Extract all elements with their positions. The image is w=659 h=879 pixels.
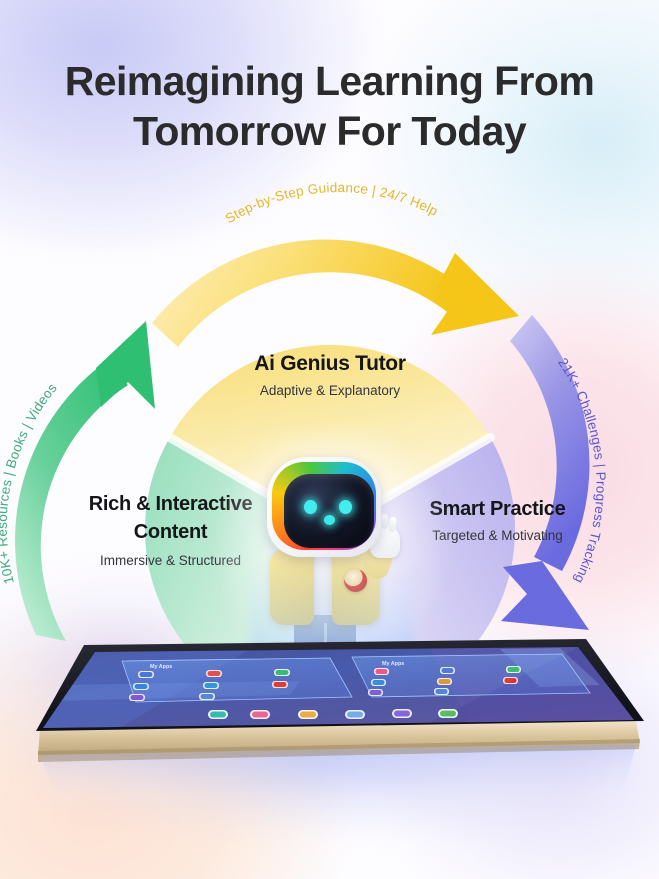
- mascot-eye-left-icon: [304, 500, 317, 514]
- mascot-helmet-rainbow-rim: [272, 462, 376, 550]
- wedge-subtitle-ai-genius-tutor: Adaptive & Explanatory: [180, 383, 480, 398]
- mascot-eye-right-icon: [339, 500, 352, 514]
- arrow-guidance: [152, 240, 519, 347]
- tablet-reflection: [40, 745, 636, 807]
- arrow-label-guidance: Step-by-Step Guidance | 24/7 Help: [223, 180, 441, 226]
- arrow-resources: [15, 321, 155, 641]
- tablet-screen-content: My Apps: [43, 647, 634, 728]
- wedge-label-ai-genius-tutor: Ai Genius Tutor Adaptive & Explanatory: [180, 352, 480, 398]
- headline-line-2: Tomorrow For Today: [0, 106, 659, 156]
- arrow-challenges: [501, 315, 589, 630]
- headline-line-1: Reimagining Learning From: [65, 58, 594, 104]
- mascot-mouth-icon: [324, 515, 335, 525]
- page-title: Reimagining Learning From Tomorrow For T…: [0, 56, 659, 156]
- tablet-device: My Apps: [0, 625, 659, 815]
- mascot-visor-screen: [284, 474, 374, 548]
- poster-canvas: Reimagining Learning From Tomorrow For T…: [0, 0, 659, 879]
- mascot-helmet: [267, 457, 381, 557]
- wedge-title-ai-genius-tutor: Ai Genius Tutor: [180, 352, 480, 376]
- mascot-finger: [380, 514, 388, 529]
